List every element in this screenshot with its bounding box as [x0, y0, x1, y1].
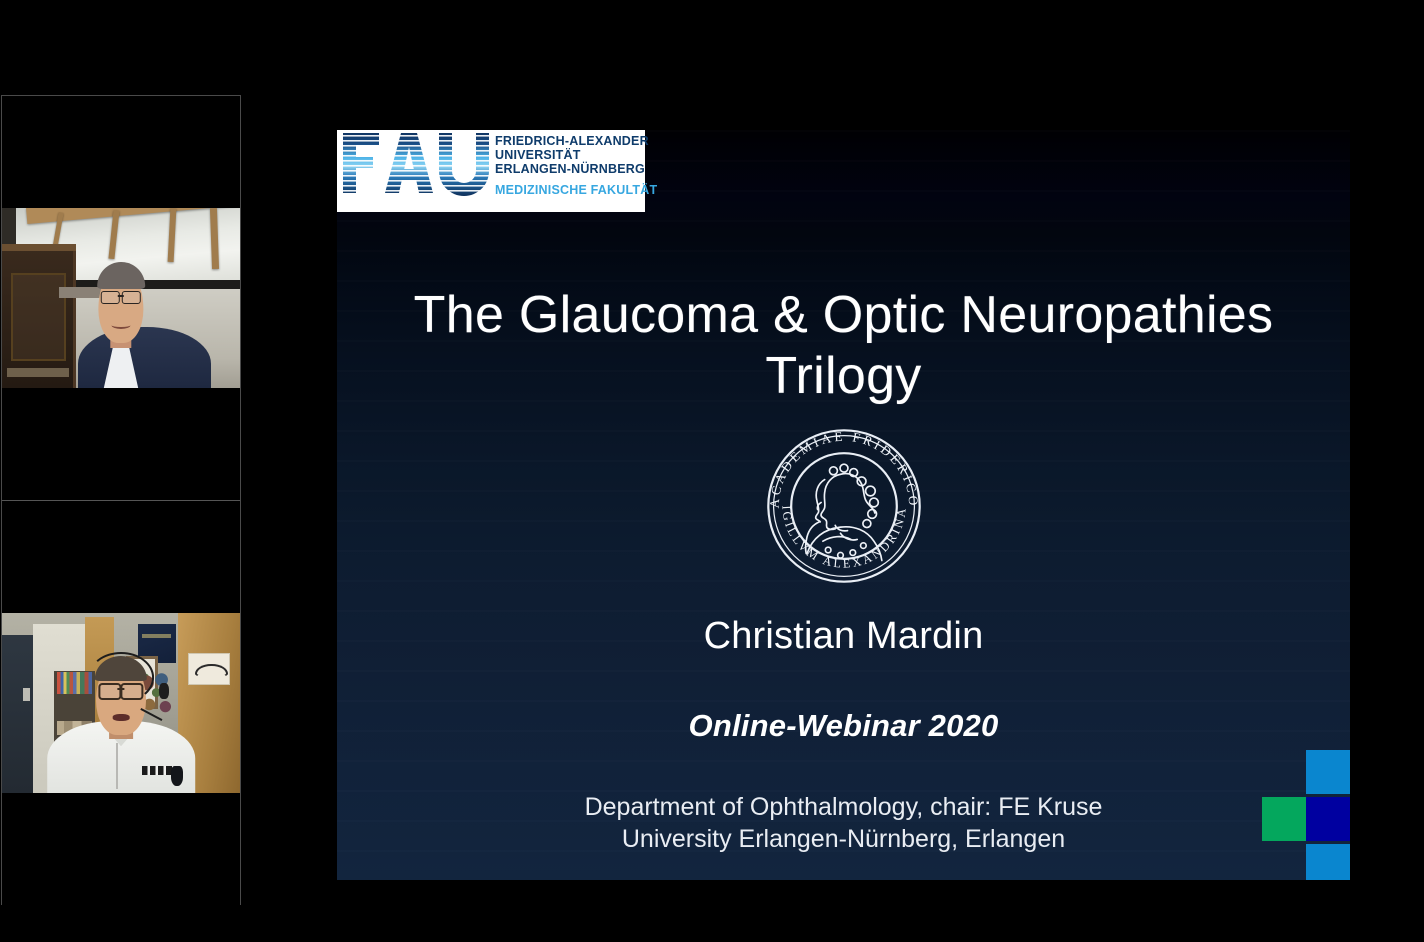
participant-filmstrip[interactable] — [1, 95, 241, 905]
square-left — [1262, 797, 1306, 841]
fau-line-3: ERLANGEN-NÜRNBERG — [495, 162, 657, 176]
square-mid — [1306, 797, 1350, 841]
wall-ledge — [59, 287, 102, 298]
affiliation: Department of Ophthalmology, chair: FE K… — [337, 792, 1350, 855]
university-seal-icon: ACADEMIAE FRIDERICO SIGILLVM ALEXANDRINA… — [756, 418, 932, 594]
square-top — [1306, 750, 1350, 794]
office-door — [2, 635, 33, 793]
event-name: Online-Webinar 2020 — [337, 708, 1350, 744]
square-bottom — [1306, 844, 1350, 880]
desk-microphone — [171, 766, 183, 786]
person-mouth — [113, 714, 130, 721]
mic-cable — [116, 743, 118, 790]
slide-title: The Glaucoma & Optic Neuropathies Trilog… — [337, 285, 1350, 408]
participant-2-scene — [2, 613, 240, 793]
participant-video-1 — [2, 208, 240, 388]
framed-artwork — [188, 653, 230, 686]
eyeglasses-icon — [101, 291, 141, 302]
fau-logo-text: FRIEDRICH-ALEXANDER UNIVERSITÄT ERLANGEN… — [495, 134, 657, 197]
presenter-name: Christian Mardin — [337, 615, 1350, 658]
shared-slide[interactable]: FRIEDRICH-ALEXANDER UNIVERSITÄT ERLANGEN… — [337, 130, 1350, 880]
participant-tile-1[interactable] — [2, 96, 240, 501]
participant-tile-2[interactable] — [2, 501, 240, 906]
wooden-cabinet — [2, 248, 76, 388]
cabinet-shelf — [7, 368, 69, 377]
affiliation-line-1: Department of Ophthalmology, chair: FE K… — [337, 792, 1350, 824]
books-row — [57, 672, 93, 694]
fau-line-2: UNIVERSITÄT — [495, 148, 657, 162]
cabinet-top — [2, 244, 76, 251]
decorative-squares — [1262, 740, 1350, 880]
fau-logo: FRIEDRICH-ALEXANDER UNIVERSITÄT ERLANGEN… — [337, 130, 645, 212]
fau-wordmark-icon — [341, 130, 489, 197]
affiliation-line-2: University Erlangen-Nürnberg, Erlangen — [337, 824, 1350, 856]
eyeglasses-icon — [98, 683, 143, 696]
name-badge — [142, 766, 173, 775]
fau-line-1: FRIEDRICH-ALEXANDER — [495, 134, 657, 148]
participant-1-scene — [2, 208, 240, 388]
participant-video-2 — [2, 613, 240, 793]
headset-earpiece — [159, 683, 169, 699]
svg-text:ACADEMIAE FRIDERICO: ACADEMIAE FRIDERICO — [766, 429, 921, 509]
fau-faculty-line: MEDIZINISCHE FAKULTÄT — [495, 183, 657, 197]
